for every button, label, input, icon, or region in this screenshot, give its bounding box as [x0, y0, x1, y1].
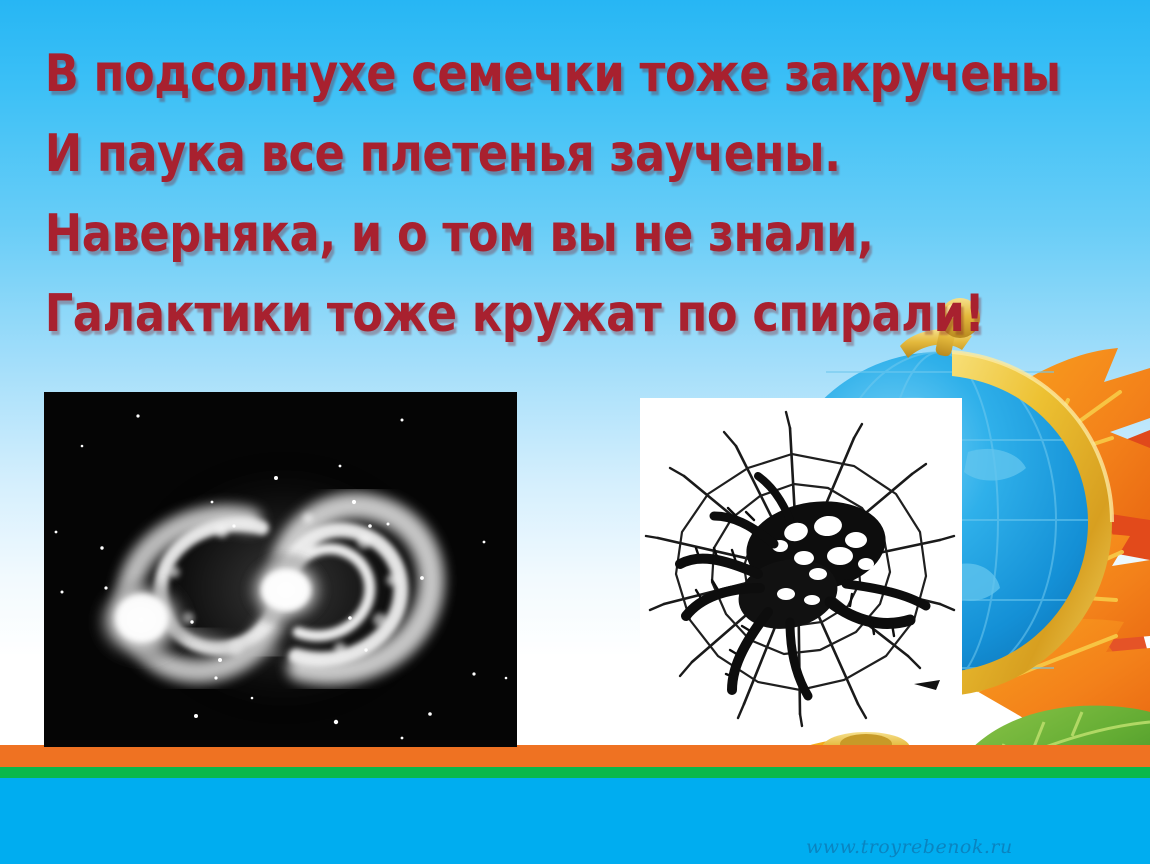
green-band: [0, 767, 1150, 778]
poem-line-2: И паука все плетенья заучены.: [0, 114, 989, 194]
red-leaf-decor: [1030, 430, 1150, 665]
poem-text-block: В подсолнухе семечки тоже закручены И па…: [0, 34, 1150, 354]
poem-line-1: В подсолнухе семечки тоже закручены: [0, 34, 989, 114]
orange-leaves-decor: [960, 348, 1150, 744]
presentation-slide: В подсолнухе семечки тоже закручены И па…: [0, 0, 1150, 864]
orange-band: [0, 745, 1150, 767]
poem-line-4: Галактики тоже кружат по спирали!: [0, 274, 989, 354]
poem-line-3: Наверняка, и о том вы не знали,: [0, 194, 989, 274]
spider-web-drawing: [640, 398, 962, 728]
galaxy-photo: [44, 392, 517, 747]
site-watermark: www.troyrebenok.ru: [806, 836, 1013, 858]
